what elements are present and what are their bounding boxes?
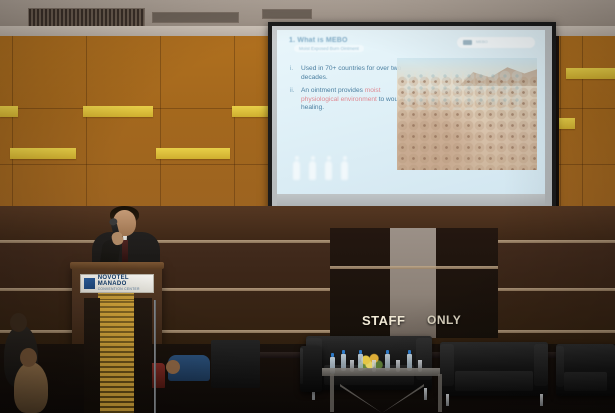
- slide-figure-skin-cells: [397, 58, 537, 170]
- staff-only-sign-left: STAFF: [362, 313, 405, 328]
- stage-crew-head: [166, 360, 180, 374]
- slide-person-icon: [341, 161, 348, 180]
- wall-accent-strip: [557, 118, 575, 129]
- panel-seam: [160, 36, 161, 216]
- sofa-arm-left: [556, 346, 564, 387]
- staff-only-sign-right: ONLY: [427, 313, 461, 327]
- wall-accent-strip: [566, 68, 615, 79]
- bullet-marker: i.: [290, 65, 293, 74]
- stage-armchair-far-right: [556, 344, 615, 396]
- audience-child-body: [14, 362, 48, 413]
- foreground-dark-column: [134, 298, 152, 413]
- slide-person-icon: [293, 161, 300, 180]
- audience-child-head: [20, 348, 37, 367]
- figure-cell-matrix-upper: [403, 70, 523, 110]
- audience-member-head: [10, 313, 27, 332]
- conference-photo-scene: 1. What is MEBO Moist Exposed Burn Ointm…: [0, 0, 615, 413]
- armchair-leg: [446, 394, 449, 406]
- pa-speaker-box: [211, 340, 260, 388]
- table-frame: [330, 374, 442, 412]
- sofa-arm-right: [534, 344, 548, 386]
- venue-subtitle: CONVENTION CENTER: [98, 288, 153, 291]
- ceiling-vent-slot-1: [152, 12, 239, 23]
- backdrop-trim: [330, 266, 498, 269]
- slide-bullet-2: ii. An ointment provides moist physiolog…: [301, 87, 409, 113]
- ceiling-vent-slot-2: [262, 9, 312, 19]
- slide-person-icon: [325, 161, 332, 180]
- mic-stand-pole: [154, 300, 156, 413]
- panel-seam: [86, 36, 87, 216]
- sofa-arm-left: [440, 344, 454, 386]
- novotel-logo-icon: [84, 278, 95, 289]
- venue-name-plaque: NOVOTEL MANADO CONVENTION CENTER: [80, 274, 154, 293]
- wood-wall-panel: [0, 206, 615, 240]
- bullet-text-part-a: An ointment provides: [301, 87, 365, 94]
- slide-bullet-1: i. Used in 70+ countries for over two de…: [301, 65, 409, 82]
- bullet-text: Used in 70+ countries for over two decad…: [301, 65, 401, 81]
- sofa-backrest: [556, 344, 615, 368]
- wall-accent-strip: [156, 148, 230, 159]
- panel-seam: [12, 36, 13, 216]
- armchair-leg: [540, 394, 543, 406]
- slide-person-icon: [309, 161, 316, 180]
- sofa-backrest: [440, 342, 548, 367]
- slide-title: 1. What is MEBO: [289, 37, 348, 44]
- sofa-cushion: [564, 372, 606, 391]
- wall-accent-strip: [0, 106, 18, 117]
- bullet-marker: ii.: [290, 87, 294, 96]
- venue-name: NOVOTEL MANADO: [98, 275, 153, 287]
- slide-logo-badge: MEBO: [457, 37, 535, 48]
- stage-sofa-far-left: [300, 346, 322, 392]
- slide-badge-label: MEBO: [476, 39, 488, 44]
- sofa-cushion: [455, 371, 533, 390]
- panel-seam: [582, 36, 583, 216]
- stage-armchair-right: [440, 342, 548, 396]
- wall-accent-strip: [10, 148, 76, 159]
- podium-top-surface: [70, 262, 164, 269]
- presentation-slide: 1. What is MEBO Moist Exposed Burn Ointm…: [277, 30, 545, 194]
- panel-seam: [234, 36, 235, 216]
- foreground-dark-column: [84, 298, 100, 413]
- foreground-banner-column: [94, 300, 138, 413]
- wall-accent-strip: [83, 106, 153, 117]
- presenter-tie: [122, 240, 128, 262]
- slide-subtitle: Moist Exposed Burn Ointment: [294, 45, 364, 52]
- logo-mark-icon: [463, 40, 472, 45]
- sofa-arm-left: [300, 348, 303, 384]
